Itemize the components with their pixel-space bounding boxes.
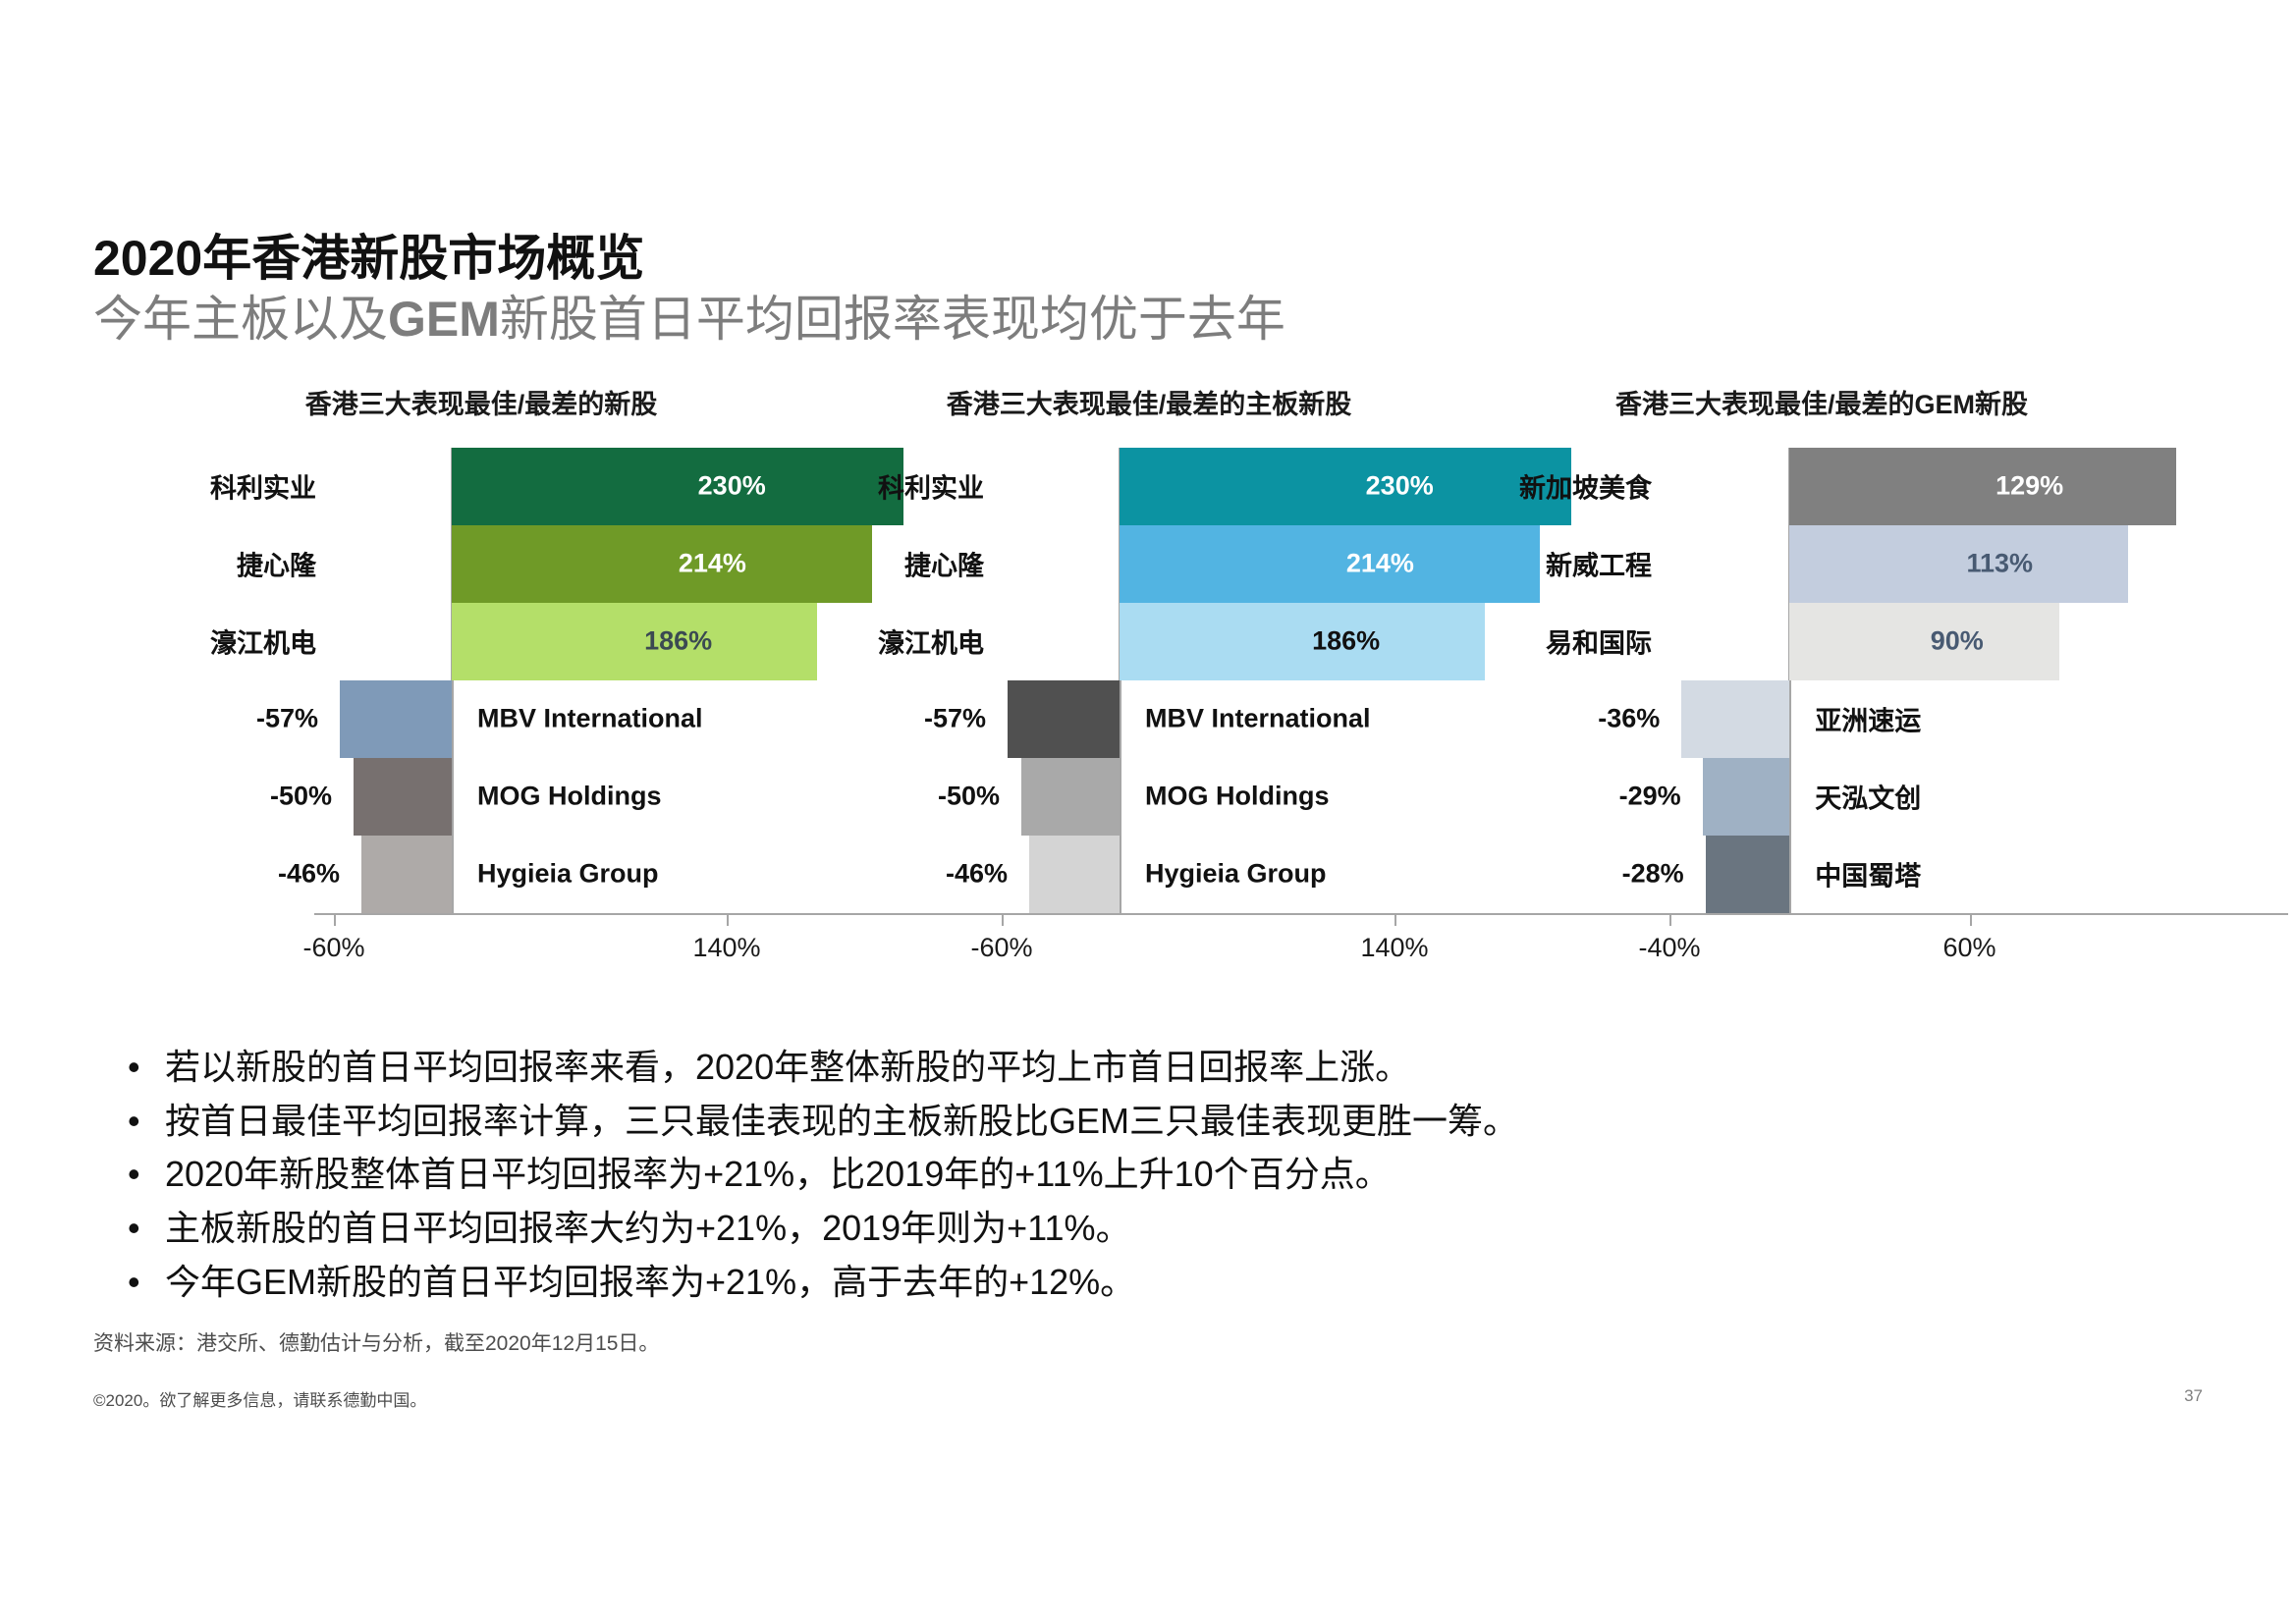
bar-negative — [1029, 836, 1120, 913]
bullet-item: •按首日最佳平均回报率计算，三只最佳表现的主板新股比GEM三只最佳表现更胜一筹。 — [116, 1095, 2178, 1149]
bar-negative — [1706, 836, 1790, 913]
bar-value-label: -36% — [1598, 704, 1660, 734]
bar-value-label: 113% — [1966, 549, 2033, 579]
bar-value-label: 186% — [1312, 626, 1380, 657]
bar-value-label: -50% — [270, 782, 332, 812]
category-label: 中国蜀塔 — [1815, 855, 1921, 893]
bar-negative — [1681, 680, 1789, 758]
category-label: Hygieia Group — [477, 859, 659, 890]
x-axis-tick-label: -40% — [1638, 933, 1700, 963]
chart-row: 129%新加坡美食 — [1503, 448, 2296, 525]
chart-row: 113%新威工程 — [1503, 525, 2296, 603]
bullet-marker: • — [128, 1256, 140, 1310]
bar-positive — [1789, 603, 2059, 680]
category-label: 新威工程 — [1503, 545, 1652, 583]
copyright-note: ©2020。欲了解更多信息，请联系德勤中国。 — [93, 1386, 426, 1411]
bar-negative — [1008, 680, 1120, 758]
bar-value-label: 129% — [1995, 471, 2063, 502]
bar-positive — [1120, 525, 1540, 603]
category-label: 易和国际 — [1503, 622, 1652, 661]
subtitle-part1: 今年主板以及 — [93, 292, 388, 347]
bar-value-label: -50% — [938, 782, 1000, 812]
bullet-text: 主板新股的首日平均回报率大约为+21%，2019年则为+11%。 — [165, 1208, 1131, 1248]
bar-negative — [340, 680, 452, 758]
chart-title: 香港三大表现最佳/最差的主板新股 — [805, 391, 1493, 420]
bar-value-label: -46% — [946, 859, 1008, 890]
source-note: 资料来源：港交所、德勤估计与分析，截至2020年12月15日。 — [93, 1327, 659, 1357]
bullet-item: •今年GEM新股的首日平均回报率为+21%，高于去年的+12%。 — [116, 1256, 2178, 1310]
x-axis-tick-label: 140% — [692, 933, 760, 963]
slide-canvas: 2020年香港新股市场概览 今年主板以及GEM新股首日平均回报率表现均优于去年 … — [0, 0, 2296, 1622]
x-axis-tick-label: 140% — [1360, 933, 1428, 963]
bullet-list: •若以新股的首日平均回报率来看，2020年整体新股的平均上市首日回报率上涨。•按… — [116, 1041, 2178, 1310]
category-label: 捷心隆 — [815, 545, 984, 583]
chart-title: 香港三大表现最佳/最差的新股 — [147, 391, 815, 420]
bar-value-label: -29% — [1619, 782, 1681, 812]
bar-positive — [1120, 603, 1485, 680]
bullet-text: 若以新股的首日平均回报率来看，2020年整体新股的平均上市首日回报率上涨。 — [165, 1047, 1410, 1087]
page-subtitle: 今年主板以及GEM新股首日平均回报率表现均优于去年 — [93, 290, 1285, 350]
bar-value-label: -57% — [256, 704, 318, 734]
x-axis-tick-label: 60% — [1943, 933, 1996, 963]
chart-row: -28%中国蜀塔 — [1503, 836, 2296, 913]
subtitle-emphasis: GEM — [388, 292, 500, 347]
bar-value-label: 90% — [1931, 626, 1984, 657]
bullet-text: 2020年新股整体首日平均回报率为+21%，比2019年的+11%上升10个百分… — [165, 1154, 1391, 1194]
category-label: Hygieia Group — [1145, 859, 1327, 890]
bar-positive — [1789, 448, 2176, 525]
bullet-marker: • — [128, 1202, 140, 1256]
bar-value-label: 186% — [644, 626, 712, 657]
bar-value-label: 214% — [1346, 549, 1414, 579]
x-axis-tick — [1970, 915, 1972, 926]
x-axis-tick-label: -60% — [970, 933, 1032, 963]
bar-value-label: 230% — [1366, 471, 1434, 502]
bar-negative — [1021, 758, 1120, 836]
chart-row: -29%天泓文创 — [1503, 758, 2296, 836]
bullet-marker: • — [128, 1095, 140, 1149]
x-axis-line — [982, 913, 1669, 915]
category-label: MBV International — [1145, 704, 1371, 734]
chart-row: -36%亚洲速运 — [1503, 680, 2296, 758]
chart-gem-board: 香港三大表现最佳/最差的GEM新股129%新加坡美食113%新威工程90%易和国… — [1503, 391, 2296, 913]
category-label: 科利实业 — [147, 467, 316, 506]
chart-title: 香港三大表现最佳/最差的GEM新股 — [1503, 391, 2141, 420]
category-label: MBV International — [477, 704, 703, 734]
bar-negative — [354, 758, 452, 836]
bar-positive — [452, 603, 817, 680]
bar-negative — [361, 836, 452, 913]
bullet-text: 今年GEM新股的首日平均回报率为+21%，高于去年的+12%。 — [165, 1262, 1135, 1302]
bar-value-label: -57% — [924, 704, 986, 734]
page-title: 2020年香港新股市场概览 — [93, 232, 1285, 286]
bar-value-label: -46% — [278, 859, 340, 890]
x-axis-tick — [1394, 915, 1396, 926]
bar-positive — [1789, 525, 2128, 603]
x-axis-line — [314, 913, 1002, 915]
bullet-text: 按首日最佳平均回报率计算，三只最佳表现的主板新股比GEM三只最佳表现更胜一筹。 — [165, 1101, 1518, 1141]
subtitle-part2: 新股首日平均回报率表现均优于去年 — [500, 292, 1285, 347]
bar-value-label: 214% — [679, 549, 746, 579]
category-label: 濠江机电 — [147, 622, 316, 661]
category-label: 捷心隆 — [147, 545, 316, 583]
x-axis-tick — [1002, 915, 1004, 926]
bullet-item: •主板新股的首日平均回报率大约为+21%，2019年则为+11%。 — [116, 1202, 2178, 1256]
bar-value-label: 230% — [698, 471, 766, 502]
category-label: 新加坡美食 — [1503, 467, 1652, 506]
charts-row: 香港三大表现最佳/最差的新股230%科利实业214%捷心隆186%濠江机电-57… — [0, 391, 2296, 1039]
page-number: 37 — [2184, 1386, 2203, 1406]
bullet-marker: • — [128, 1041, 140, 1095]
bullet-item: •若以新股的首日平均回报率来看，2020年整体新股的平均上市首日回报率上涨。 — [116, 1041, 2178, 1095]
bar-negative — [1703, 758, 1790, 836]
x-axis-tick — [1669, 915, 1671, 926]
bar-value-label: -28% — [1622, 859, 1684, 890]
plot-area: 129%新加坡美食113%新威工程90%易和国际-36%亚洲速运-29%天泓文创… — [1503, 448, 2296, 913]
x-axis-tick-label: -60% — [302, 933, 364, 963]
category-label: 亚洲速运 — [1815, 700, 1921, 738]
category-label: 科利实业 — [815, 467, 984, 506]
bullet-marker: • — [128, 1148, 140, 1202]
bullet-item: •2020年新股整体首日平均回报率为+21%，比2019年的+11%上升10个百… — [116, 1148, 2178, 1202]
title-block: 2020年香港新股市场概览 今年主板以及GEM新股首日平均回报率表现均优于去年 — [93, 232, 1285, 350]
category-label: MOG Holdings — [1145, 782, 1329, 812]
bar-positive — [452, 525, 872, 603]
x-axis-tick — [727, 915, 729, 926]
category-label: 天泓文创 — [1815, 778, 1921, 816]
x-axis-tick — [334, 915, 336, 926]
chart-row: 90%易和国际 — [1503, 603, 2296, 680]
category-label: 濠江机电 — [815, 622, 984, 661]
category-label: MOG Holdings — [477, 782, 661, 812]
